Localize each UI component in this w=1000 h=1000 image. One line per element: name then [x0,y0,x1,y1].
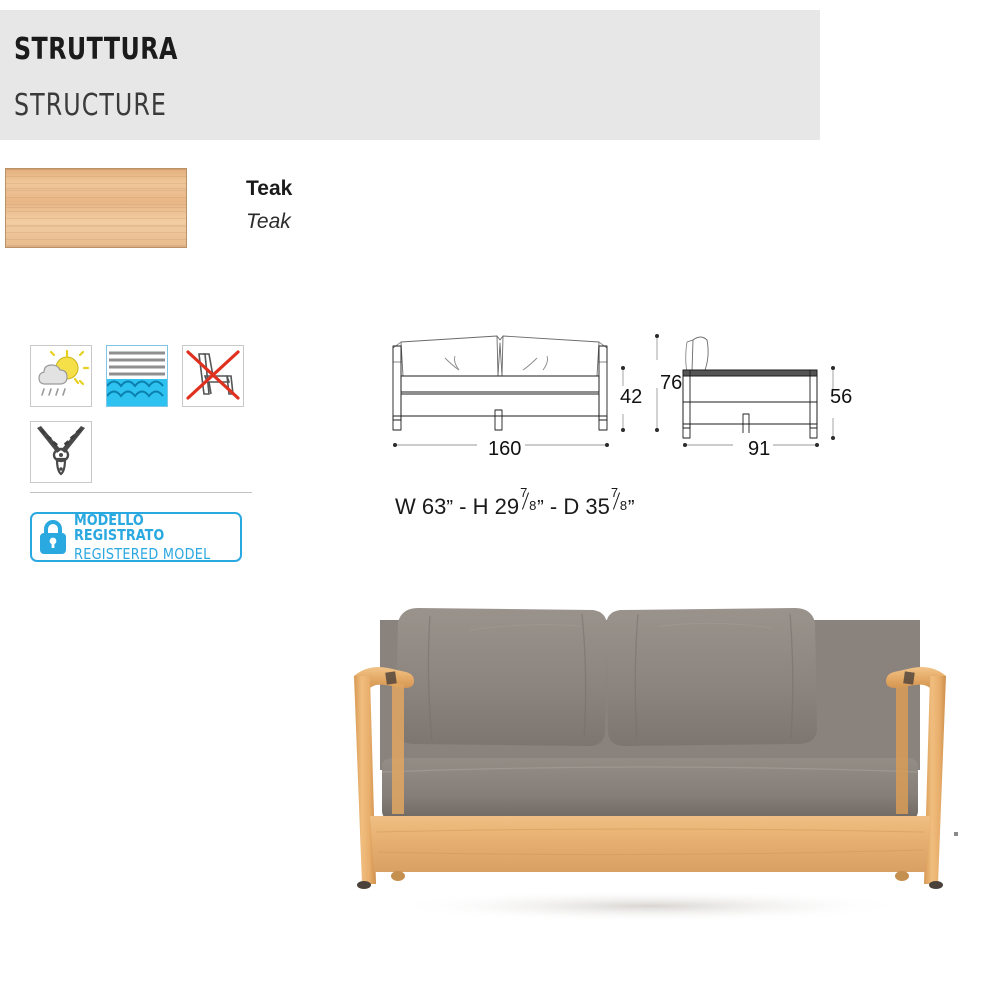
header-band: STRUTTURA STRUCTURE [0,10,820,140]
imperial-height-fraction: 78 [520,492,536,514]
imperial-dimensions: W 63” - H 2978” - D 3578” [395,492,635,520]
imperial-separator-2: - [550,494,557,519]
dimension-total-height-cm: 76 [660,372,682,395]
inch-mark-height: ” [537,497,544,519]
imperial-depth-whole: 35 [585,494,609,519]
material-name-english: Teak [246,210,291,234]
badge-label-english: REGISTERED MODEL [74,547,232,562]
imperial-separator-1: - [459,494,466,519]
weather-resistant-icon [30,345,92,407]
removable-cover-zipper-icon [30,421,92,483]
padlock-icon [34,514,72,560]
inch-mark-width: ” [446,497,453,519]
two-seat-teak-sofa-photo [320,580,980,940]
section-divider [30,492,252,493]
not-stackable-icon [182,345,244,407]
material-name-italian: Teak [246,177,292,201]
imperial-height-label: H [473,494,489,519]
imperial-width-label: W [395,494,416,519]
registered-model-badge: MODELLO REGISTRATO REGISTERED MODEL [30,512,242,562]
dimension-side-height-cm: 56 [830,386,852,409]
dimension-width-cm: 160 [488,438,521,461]
page-title-english: STRUCTURE [14,88,167,123]
badge-label-italian: MODELLO REGISTRATO [74,513,232,543]
depth-fraction-denominator: 8 [620,498,627,513]
stray-mark [954,832,958,836]
imperial-width-value: 63 [422,494,446,519]
dimension-seat-height-cm: 42 [620,386,642,409]
salt-water-resistant-icon [106,345,168,407]
imperial-depth-fraction: 78 [611,492,627,514]
height-fraction-denominator: 8 [529,498,536,513]
technical-drawings [385,318,905,468]
dimension-depth-cm: 91 [748,438,770,461]
page-title-italian: STRUTTURA [14,32,178,67]
imperial-depth-label: D [563,494,579,519]
imperial-height-whole: 29 [495,494,519,519]
teak-wood-swatch [5,168,187,248]
inch-mark-depth: ” [628,497,635,519]
